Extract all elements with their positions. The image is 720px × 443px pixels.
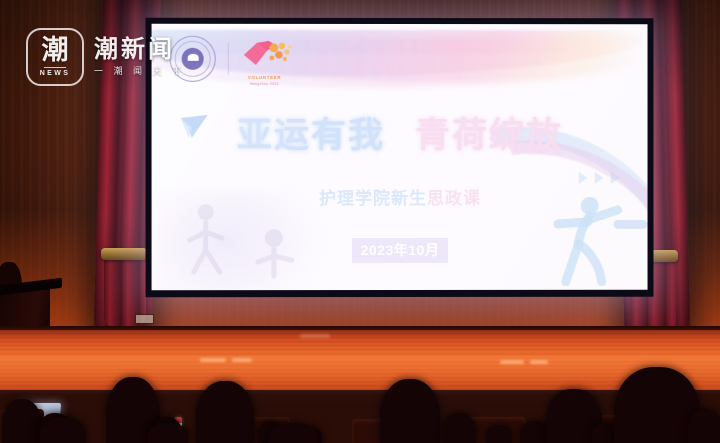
audience-head [380,379,440,443]
volunteer-logo-icon: VOLUNTEER Hangzhou 2022 [241,39,299,79]
curtain-left-tieback [101,248,147,260]
audience-head [148,423,188,443]
slide-title-blue: 亚运有我 [237,116,385,155]
audience-head [196,381,254,443]
slide-title-pink: 青荷绽放 [415,116,563,155]
slide-date: 2023年10月 [152,238,648,263]
emblem-divider [228,43,229,75]
arrow-icon-3 [611,172,620,184]
university-seal-icon [170,36,216,82]
audience-backlight [0,356,720,396]
slide-emblem-row: VOLUNTEER Hangzhou 2022 [170,36,299,82]
arrow-icon-2 [595,172,604,184]
audience-rows [0,356,720,443]
arrow-accents [579,172,620,184]
slide-date-text: 2023年10月 [352,238,449,263]
projection-screen: VOLUNTEER Hangzhou 2022 亚运有我青荷绽放 护理学院新生思… [152,24,648,290]
audience-head [486,425,512,443]
audience-head [442,413,476,443]
slide-subtitle-blue: 护理学院新生 [319,189,427,208]
slide-title: 亚运有我青荷绽放 [152,118,648,153]
wall-socket [135,314,154,324]
slide-subtitle-pink: 思政课 [427,189,481,208]
volunteer-logo-label: VOLUNTEER [248,75,281,80]
audience-head [688,409,720,443]
floor-reflection-5 [300,334,330,338]
arrow-icon-1 [579,172,588,184]
audience-head [268,423,318,443]
projection-screen-frame: VOLUNTEER Hangzhou 2022 亚运有我青荷绽放 护理学院新生思… [146,18,654,298]
audience-head [2,399,42,443]
audience-head [40,417,86,443]
auditorium-photo: VOLUNTEER Hangzhou 2022 亚运有我青荷绽放 护理学院新生思… [0,0,720,443]
slide-subtitle: 护理学院新生思政课 [152,184,648,209]
university-seal-core [182,48,204,70]
volunteer-logo-sublabel: Hangzhou 2022 [250,82,279,86]
